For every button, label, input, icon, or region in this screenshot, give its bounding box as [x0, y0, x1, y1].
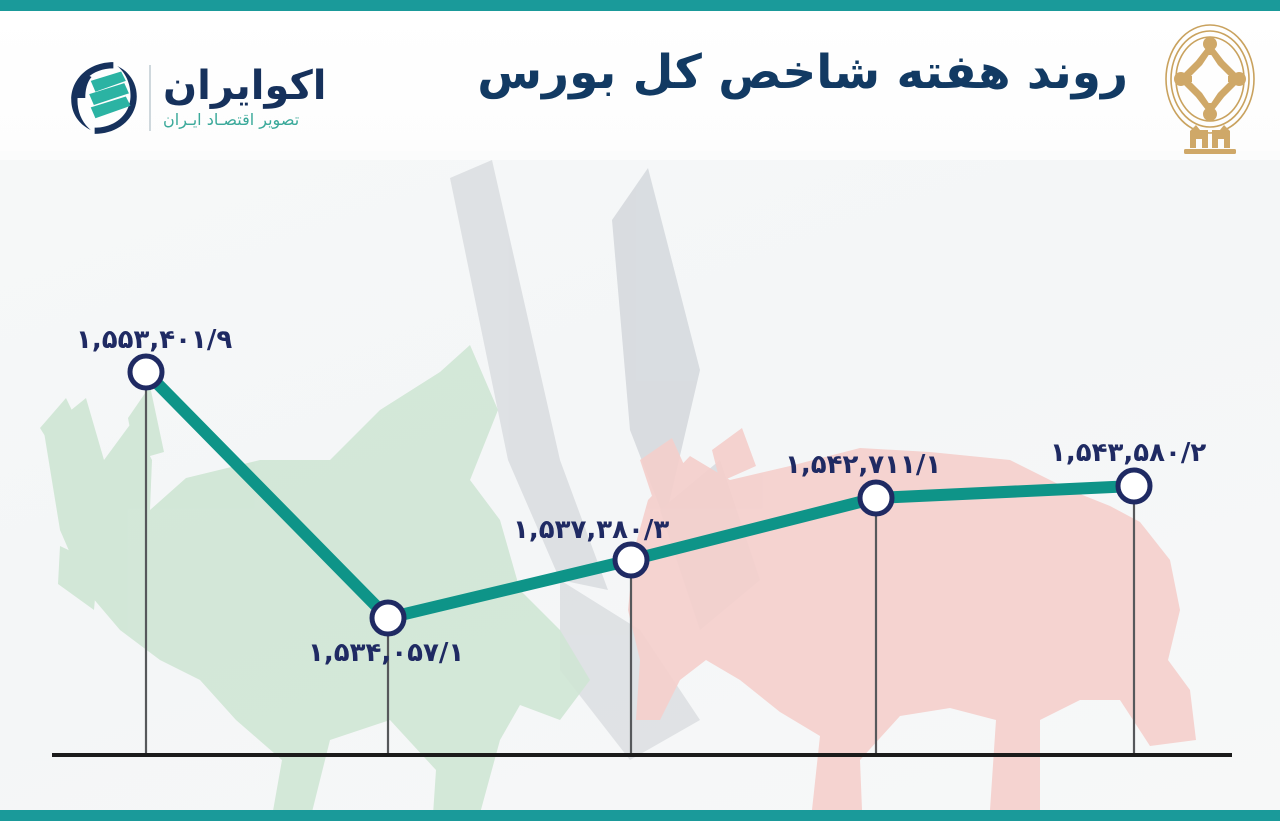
top-accent-bar [0, 0, 1280, 11]
data-label-1: ۱,۵۵۳,۴۰۱/۹ [76, 325, 232, 355]
header: اکوایران تصویر اقتصـاد ایـران روند هفته … [0, 11, 1280, 151]
data-point-5[interactable] [1118, 470, 1150, 502]
data-label-5: ۱,۵۴۳,۵۸۰/۲ [1050, 438, 1206, 468]
infographic-page: اکوایران تصویر اقتصـاد ایـران روند هفته … [0, 0, 1280, 821]
persian-ornamental-emblem-icon [1150, 19, 1270, 159]
logo-divider [149, 65, 151, 131]
chart-canvas [0, 160, 1280, 810]
eco-iran-swoosh-logo-icon [65, 57, 143, 139]
page-title: روند هفته شاخص کل بورس [477, 45, 1128, 100]
chart-area: ۱,۵۵۳,۴۰۱/۹ ۱,۵۳۴,۰۵۷/۱ ۱,۵۳۷,۳۸۰/۳ ۱,۵۴… [0, 160, 1280, 810]
data-point-3[interactable] [615, 544, 647, 576]
data-point-2[interactable] [372, 602, 404, 634]
bottom-accent-bar [0, 810, 1280, 821]
data-label-3: ۱,۵۳۷,۳۸۰/۳ [513, 515, 669, 545]
data-label-4: ۱,۵۴۲,۷۱۱/۱ [785, 450, 941, 480]
brand-tagline: تصویر اقتصـاد ایـران [163, 110, 299, 131]
brand-logo[interactable]: اکوایران تصویر اقتصـاد ایـران [55, 49, 345, 147]
data-label-2: ۱,۵۳۴,۰۵۷/۱ [308, 638, 464, 668]
data-point-1[interactable] [130, 356, 162, 388]
data-point-4[interactable] [860, 482, 892, 514]
brand-name: اکوایران [163, 65, 327, 107]
